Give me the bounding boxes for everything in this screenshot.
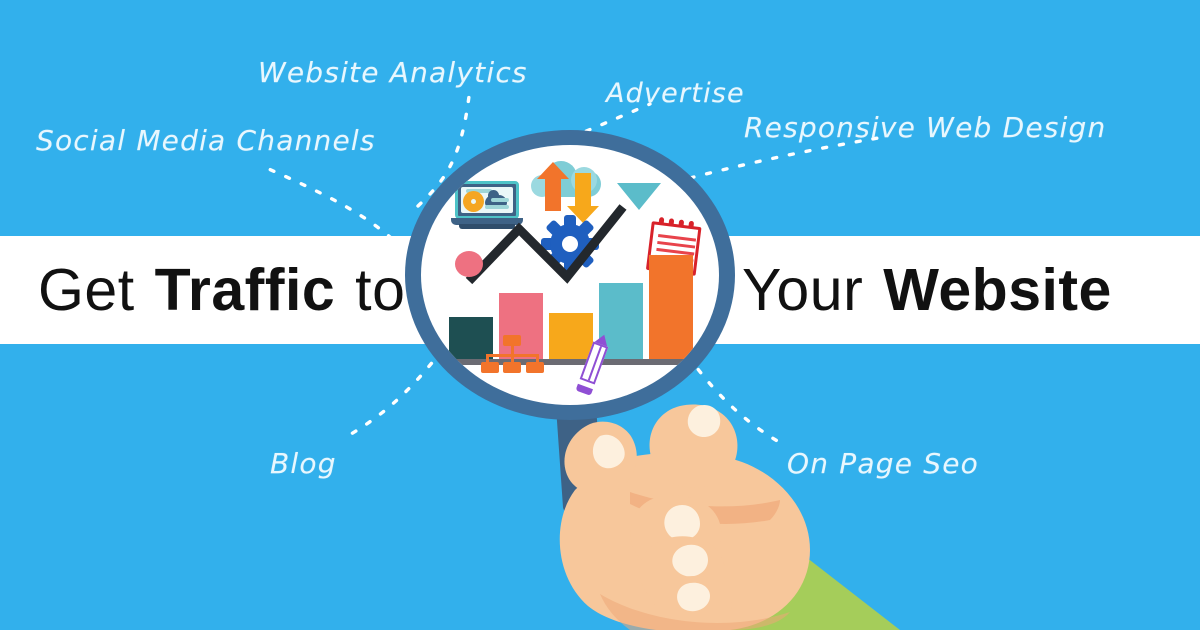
callout-social-media-channels: Social Media Channels [36,124,376,157]
middle-nail [664,505,700,540]
trend-start-marker [455,251,483,277]
callout-blog: Blog [270,447,337,480]
page-title-right: Your Website [742,236,1112,344]
headline-word-traffic: Traffic [155,256,336,324]
trend-end-triangle-icon [617,183,661,210]
page-title-left: Get Traffic to [38,236,405,344]
callout-advertise: Advertise [606,78,745,109]
magnifier-lens [421,145,719,405]
callout-website-analytics: Website Analytics [258,56,528,89]
hand-illustration [480,380,980,630]
poster-canvas: Website Analytics Advertise Responsive W… [0,0,1200,630]
headline-word-your: Your [742,256,863,324]
headline-word-get: Get [38,256,135,324]
magnifier-rim [405,130,735,420]
index-nail [688,405,720,437]
callout-responsive-web-design: Responsive Web Design [744,111,1106,144]
headline-word-to: to [355,256,405,324]
headline-word-website: Website [883,256,1112,324]
sitemap-icon [481,335,543,375]
